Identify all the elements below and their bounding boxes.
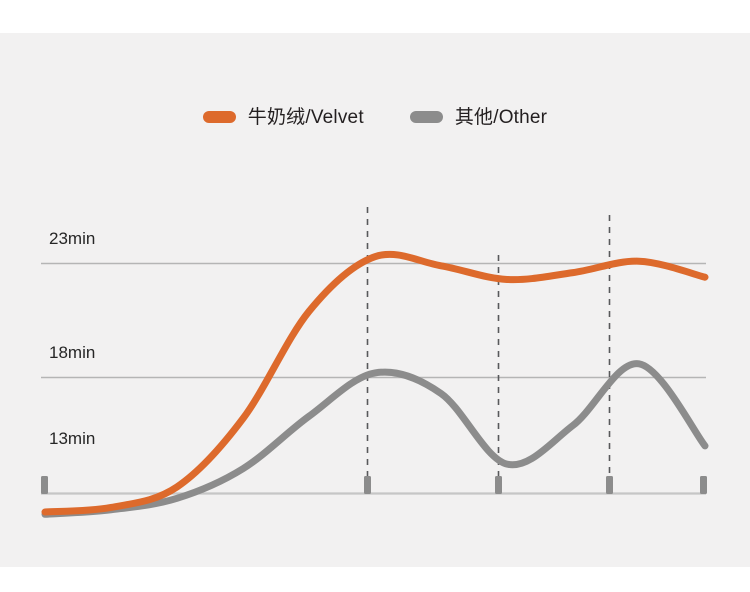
x-axis-tick-4 <box>700 476 707 494</box>
x-axis-tick-3 <box>606 476 613 494</box>
x-axis-tick-0 <box>41 476 48 494</box>
x-axis-tick-marks <box>41 476 707 494</box>
x-axis-tick-2 <box>495 476 502 494</box>
chart-plot-area <box>0 0 750 592</box>
chart-page: 牛奶绒/Velvet 其他/Other 23min 18min 13min <box>0 0 750 592</box>
x-axis-tick-1 <box>364 476 371 494</box>
gridlines <box>41 264 706 378</box>
